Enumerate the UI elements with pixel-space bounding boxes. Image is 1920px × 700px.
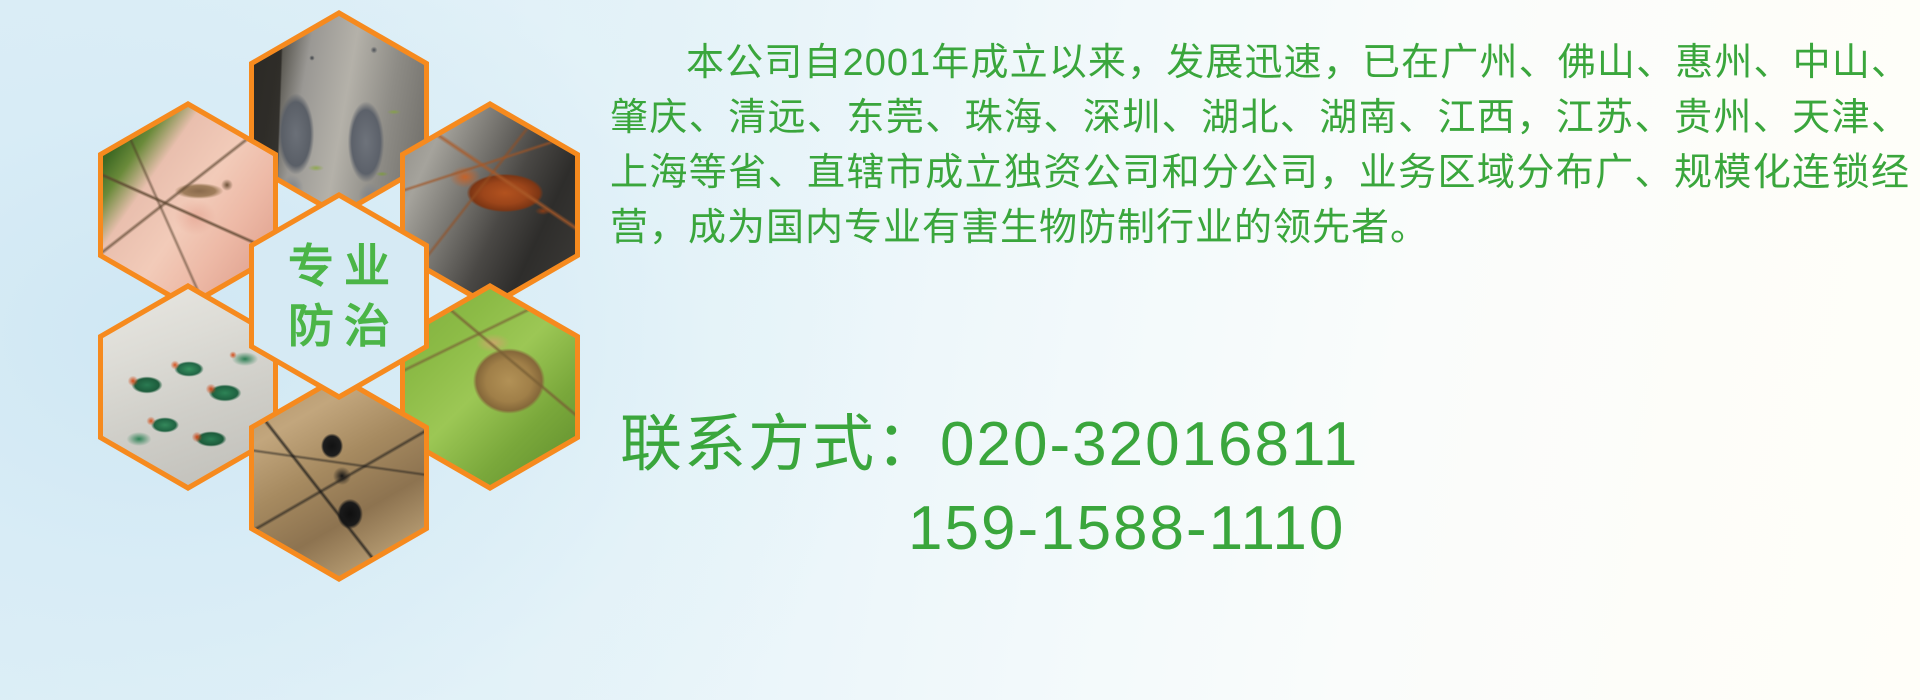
rats-photo: [254, 16, 424, 212]
hex-tile-slogan-inner: 专业 防治: [254, 198, 424, 394]
hex-tile-ant-inner: [254, 380, 424, 576]
hex-tile-cockroach-inner: [405, 107, 575, 303]
ant-photo: [254, 380, 424, 576]
contact-label: 联系方式：: [620, 410, 940, 479]
slogan-line-1: 专业: [278, 243, 400, 289]
cockroach-photo: [405, 107, 575, 303]
hex-tile-rats-inner: [254, 16, 424, 212]
hexagon-photo-cluster: 专业 防治: [80, 6, 590, 566]
slogan-text: 专业 防治: [254, 198, 424, 394]
hex-tile-mosquito-inner: [103, 107, 273, 303]
banner-content: 本公司自2001年成立以来，发展迅速，已在广州、佛山、惠州、中山、肇庆、清远、东…: [610, 0, 1920, 700]
stinkbug-photo: [405, 289, 575, 485]
contact-secondary-line: 159-1588-1110: [620, 487, 1910, 571]
slogan-line-2: 防治: [278, 303, 400, 349]
phone-secondary[interactable]: 159-1588-1110: [908, 494, 1345, 563]
phone-primary[interactable]: 020-32016811: [940, 410, 1359, 479]
mosquito-photo: [103, 107, 273, 303]
company-intro-text: 本公司自2001年成立以来，发展迅速，已在广州、佛山、惠州、中山、肇庆、清远、东…: [610, 36, 1910, 256]
hex-tile-flies-inner: [103, 289, 273, 485]
hex-tile-stinkbug-inner: [405, 289, 575, 485]
flies-photo: [103, 289, 273, 485]
pest-control-banner: 专业 防治 本公司自2001年成立以来，发展迅速，已在广州、佛山、惠州、中山、肇…: [0, 0, 1920, 700]
company-intro: 本公司自2001年成立以来，发展迅速，已在广州、佛山、惠州、中山、肇庆、清远、东…: [610, 36, 1910, 256]
contact-primary-line: 联系方式：020-32016811: [620, 403, 1910, 487]
contact-block: 联系方式：020-32016811 159-1588-1110: [620, 403, 1910, 571]
